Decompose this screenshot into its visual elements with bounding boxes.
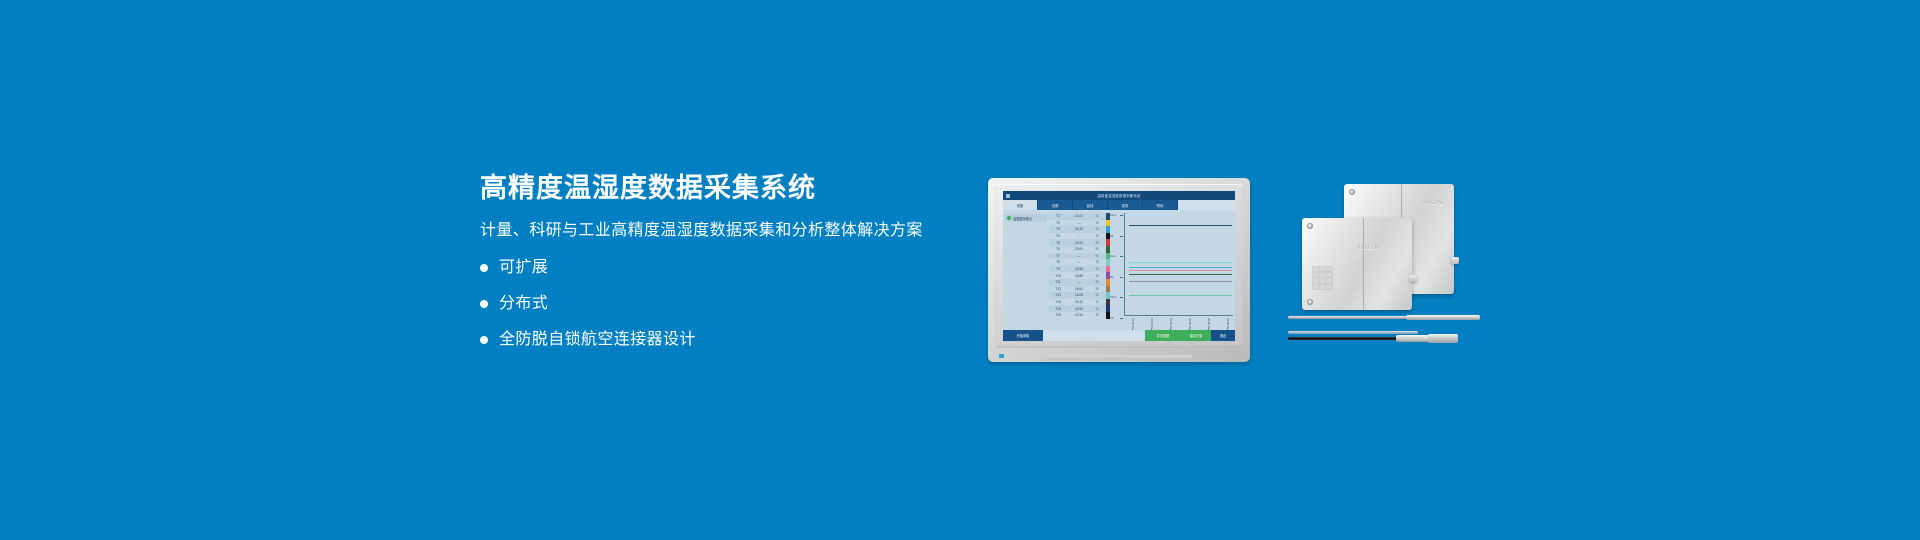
x-axis-tick: 10:32:10: [1131, 318, 1135, 329]
device-tree-pane: 温湿度采集仪: [1003, 210, 1049, 330]
tab-curve[interactable]: 曲线: [1073, 200, 1108, 210]
tab-report[interactable]: 报表: [1108, 200, 1143, 210]
app-logo-icon: [1006, 194, 1010, 198]
enclosure-front: INON: [1302, 218, 1412, 310]
status-bar-spacer: [1043, 330, 1145, 341]
brand-logo: INON: [1358, 245, 1381, 251]
hardware-product-image: INON INON: [1288, 170, 1488, 350]
y-axis-tick: 19.2: [1110, 295, 1116, 299]
aviation-connector: [1409, 275, 1417, 282]
channel-value: ---: [1067, 221, 1091, 225]
channel-label: T15: [1049, 307, 1067, 311]
device-tree-node[interactable]: 温湿度采集仪: [1005, 214, 1047, 222]
y-axis-tick: 20: [1110, 275, 1113, 279]
chart-series-line: [1129, 295, 1232, 296]
channel-value: 16.98: [1067, 267, 1091, 271]
table-row[interactable]: T2---℃: [1049, 220, 1106, 227]
channel-value: 18.12: [1067, 241, 1091, 245]
table-row[interactable]: T1215.92℃: [1049, 286, 1106, 293]
channel-label: T16: [1049, 313, 1067, 317]
y-axis-tick: 22: [1110, 234, 1113, 238]
table-row[interactable]: T121.01℃: [1049, 213, 1106, 220]
table-row[interactable]: T1316.28℃: [1049, 292, 1106, 299]
channel-unit: ℃: [1091, 234, 1103, 238]
aviation-connector: [1451, 257, 1459, 264]
app-window-title: 高精度温湿度数据采集系统: [1097, 193, 1140, 198]
bullet-dot-icon: [480, 336, 488, 344]
embossed-keypad-pattern: [1312, 266, 1346, 296]
chart-x-axis: 10:32:1010:33:0010:33:5010:34:4010:35:30…: [1124, 316, 1233, 329]
channel-value: 15.92: [1067, 287, 1091, 291]
channel-label: T3: [1049, 227, 1067, 231]
channel-table: T121.01℃T2---℃T316.19℃T4---℃T518.12℃T620…: [1049, 210, 1106, 330]
channel-value: ---: [1067, 234, 1091, 238]
channel-unit: ℃: [1091, 280, 1103, 284]
chart-series-line: [1129, 274, 1232, 275]
chart-series-line: [1129, 225, 1232, 226]
screw-icon: [1349, 189, 1355, 195]
device-name: 温湿度采集仪: [1013, 216, 1032, 221]
feature-list: 可扩展 分布式 全防脱自锁航空连接器设计: [480, 260, 950, 348]
app-body: 温湿度采集仪 T121.01℃T2---℃T316.19℃T4---℃T518.…: [1003, 210, 1235, 330]
table-row[interactable]: T11---℃: [1049, 279, 1106, 286]
channel-unit: ℃: [1091, 241, 1103, 245]
channel-label: T5: [1049, 241, 1067, 245]
channel-label: T10: [1049, 274, 1067, 278]
channel-value: 21.01: [1067, 214, 1091, 218]
channel-unit: ℃: [1091, 227, 1103, 231]
channel-label: T9: [1049, 267, 1067, 271]
tab-acquisition[interactable]: 采集: [1003, 200, 1038, 210]
x-axis-tick: 10:35:30: [1207, 318, 1211, 329]
feature-label: 分布式: [499, 296, 548, 312]
table-row[interactable]: T1621.94℃: [1049, 312, 1106, 319]
table-row[interactable]: T1420.11℃: [1049, 299, 1106, 306]
monitor-screen: 高精度温湿度数据采集系统 采集 设置 曲线 报表 帮助 温湿度采集仪: [1003, 191, 1235, 341]
channel-unit: ℃: [1091, 214, 1103, 218]
export-data-button[interactable]: 导出数据: [1145, 330, 1181, 341]
channel-unit: ℃: [1091, 300, 1103, 304]
exit-button[interactable]: 退出: [1211, 330, 1235, 341]
tab-bar-filler: [1178, 200, 1235, 210]
y-axis-tick: 23.2: [1110, 213, 1116, 217]
app-status-bar: 开始采集 导出数据 保存记录 退出: [1003, 330, 1235, 341]
x-axis-tick: 10:34:40: [1188, 318, 1192, 329]
channel-unit: ℃: [1091, 254, 1103, 258]
screw-icon: [1307, 223, 1313, 229]
channel-label: T2: [1049, 221, 1067, 225]
humidity-probe: [1288, 330, 1480, 340]
monitor-bezel: 高精度温湿度数据采集系统 采集 设置 曲线 报表 帮助 温湿度采集仪: [995, 184, 1243, 348]
power-led-icon: [999, 354, 1004, 358]
product-banner: 高精度温湿度数据采集系统 计量、科研与工业高精度温湿度数据采集和分析整体解决方案…: [0, 0, 1920, 540]
bullet-dot-icon: [480, 300, 488, 308]
channel-value: ---: [1067, 260, 1091, 264]
chart-plot-area: [1124, 213, 1233, 316]
table-row[interactable]: T620.81℃: [1049, 246, 1106, 253]
channel-value: 16.90: [1067, 307, 1091, 311]
table-row[interactable]: T916.98℃: [1049, 266, 1106, 273]
chart-series-line: [1129, 267, 1232, 268]
bullet-dot-icon: [480, 264, 488, 272]
channel-unit: ℃: [1091, 293, 1103, 297]
channel-unit: ℃: [1091, 267, 1103, 271]
channel-unit: ℃: [1091, 287, 1103, 291]
chart-series-line: [1129, 281, 1232, 282]
channel-value: 20.81: [1067, 247, 1091, 251]
channel-label: T11: [1049, 280, 1067, 284]
screw-icon: [1307, 299, 1313, 305]
channel-unit: ℃: [1091, 313, 1103, 317]
list-item: 全防脱自锁航空连接器设计: [480, 332, 950, 348]
app-titlebar: 高精度温湿度数据采集系统: [1003, 191, 1235, 200]
table-row[interactable]: T8---℃: [1049, 259, 1106, 266]
table-row[interactable]: T1516.90℃: [1049, 305, 1106, 312]
y-axis-tick: 21.2: [1110, 254, 1116, 258]
table-row[interactable]: T7---℃: [1049, 253, 1106, 260]
list-item: 分布式: [480, 296, 950, 312]
channel-value: 16.19: [1067, 227, 1091, 231]
page-subtitle: 计量、科研与工业高精度温湿度数据采集和分析整体解决方案: [480, 220, 950, 242]
channel-unit: ℃: [1091, 260, 1103, 264]
x-axis-tick: 10:33:00: [1150, 318, 1154, 329]
temperature-probe: [1288, 314, 1480, 320]
channel-value: 16.28: [1067, 293, 1091, 297]
channel-value: 16.88: [1067, 274, 1091, 278]
table-row[interactable]: T4---℃: [1049, 233, 1106, 240]
channel-unit: ℃: [1091, 274, 1103, 278]
trend-chart: 23.22221.22019.219 10:32:1010:33:0010:33…: [1110, 210, 1235, 330]
table-row[interactable]: T316.19℃: [1049, 226, 1106, 233]
start-acquisition-button[interactable]: 开始采集: [1003, 330, 1043, 341]
channel-unit: ℃: [1091, 247, 1103, 251]
channel-value: 21.94: [1067, 313, 1091, 317]
brand-logo: INON: [1421, 200, 1444, 206]
channel-label: T13: [1049, 293, 1067, 297]
channel-unit: ℃: [1091, 307, 1103, 311]
channel-label: T6: [1049, 247, 1067, 251]
channel-label: T1: [1049, 214, 1067, 218]
chart-series-line: [1129, 270, 1232, 271]
tab-settings[interactable]: 设置: [1038, 200, 1073, 210]
chart-y-axis: 23.22221.22019.219: [1110, 213, 1123, 316]
y-axis-tick: 19: [1110, 316, 1113, 320]
save-record-button[interactable]: 保存记录: [1181, 330, 1211, 341]
feature-label: 可扩展: [499, 260, 548, 276]
chart-series-line: [1129, 262, 1232, 263]
channel-value: ---: [1067, 280, 1091, 284]
app-tab-bar: 采集 设置 曲线 报表 帮助: [1003, 200, 1235, 210]
list-item: 可扩展: [480, 260, 950, 276]
panel-pc-product-image: 高精度温湿度数据采集系统 采集 设置 曲线 报表 帮助 温湿度采集仪: [988, 178, 1250, 362]
marketing-copy: 高精度温湿度数据采集系统 计量、科研与工业高精度温湿度数据采集和分析整体解决方案…: [480, 172, 950, 368]
channel-label: T14: [1049, 300, 1067, 304]
channel-unit: ℃: [1091, 221, 1103, 225]
channel-label: T7: [1049, 254, 1067, 258]
feature-label: 全防脱自锁航空连接器设计: [499, 332, 696, 348]
channel-value: 20.11: [1067, 300, 1091, 304]
table-row[interactable]: T518.12℃: [1049, 239, 1106, 246]
channel-label: T12: [1049, 287, 1067, 291]
table-row[interactable]: T1016.88℃: [1049, 272, 1106, 279]
channel-value: ---: [1067, 254, 1091, 258]
status-ok-icon: [1007, 216, 1011, 220]
tab-help[interactable]: 帮助: [1143, 200, 1178, 210]
x-axis-tick: 10:33:50: [1169, 318, 1173, 329]
channel-label: T8: [1049, 260, 1067, 264]
page-title: 高精度温湿度数据采集系统: [480, 172, 950, 206]
channel-label: T4: [1049, 234, 1067, 238]
embossed-port-glyphs: [1350, 262, 1366, 298]
monitor-stand: [1046, 355, 1193, 360]
x-axis-tick: 10:36:20: [1226, 318, 1230, 329]
